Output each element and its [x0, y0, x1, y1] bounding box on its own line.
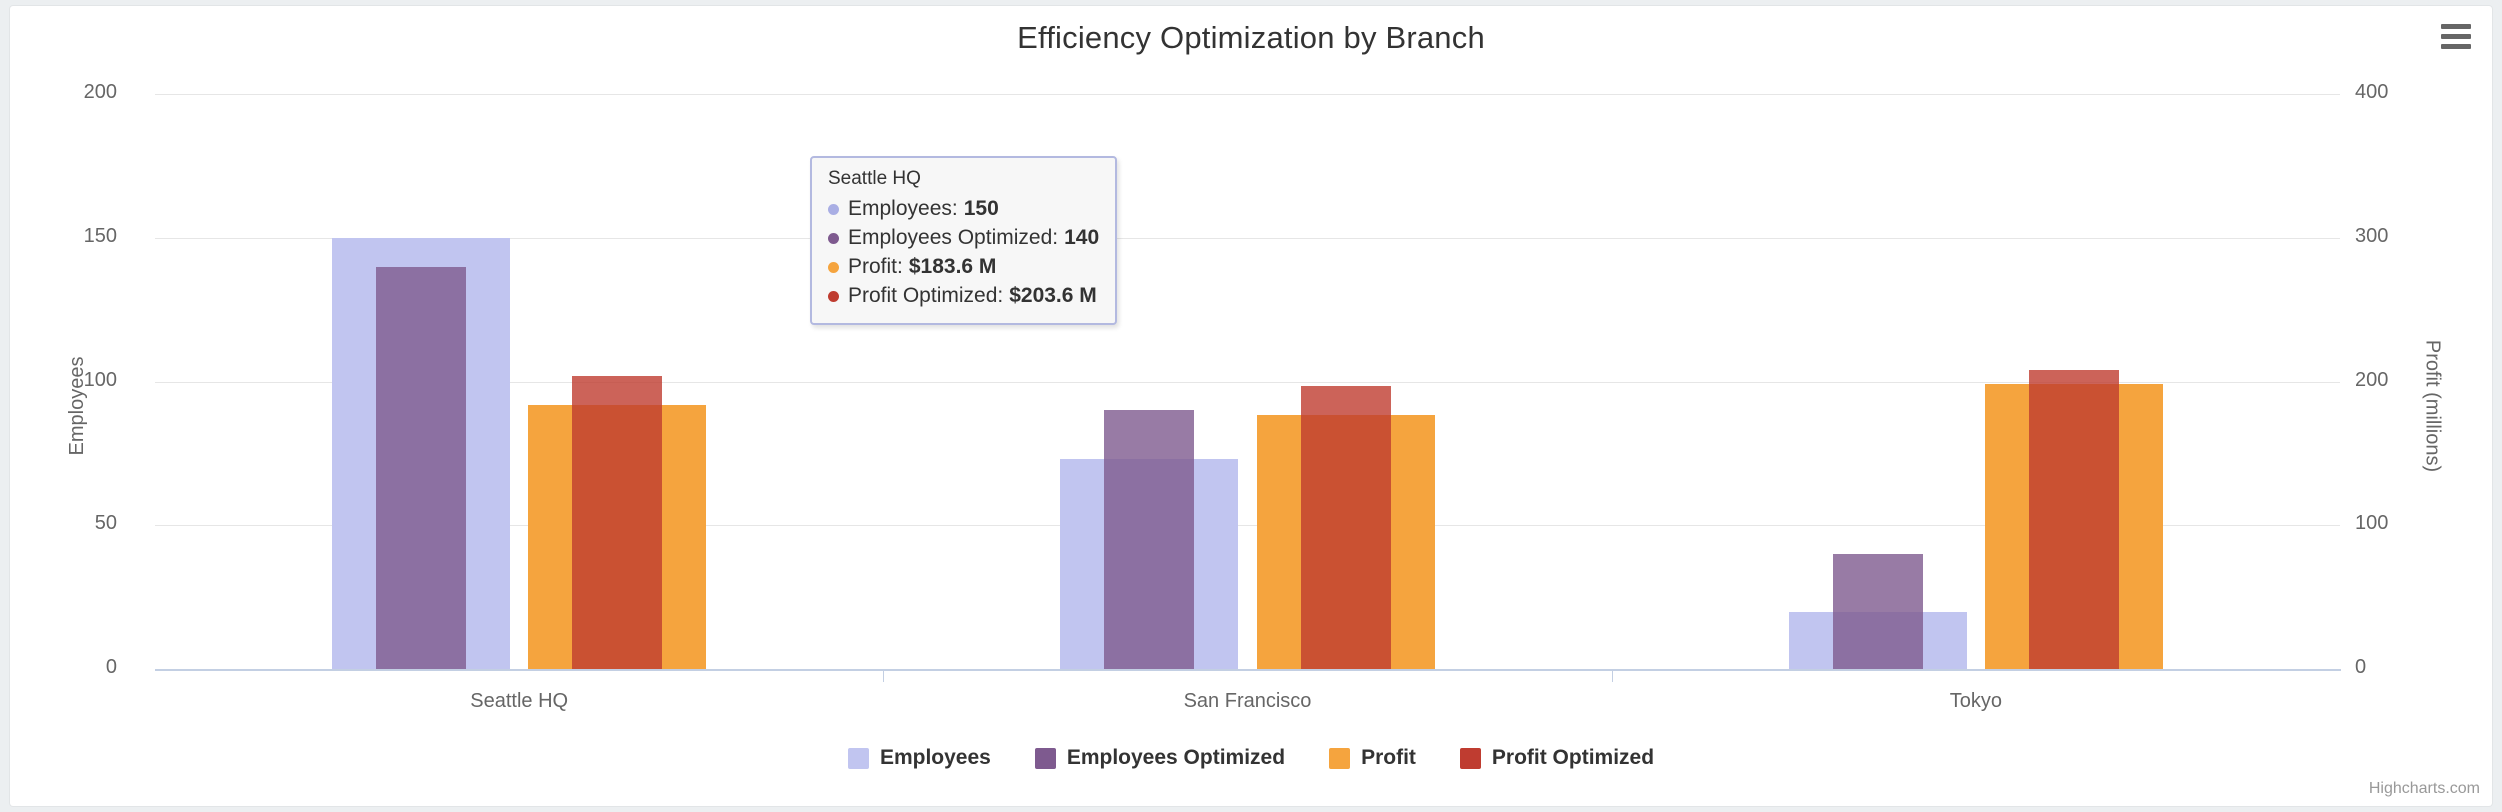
- legend-label: Profit: [1361, 746, 1416, 770]
- y-axis-tick-label-right: 300: [2355, 225, 2388, 248]
- legend-label: Employees: [880, 746, 991, 770]
- y-axis-tick-label-left: 200: [84, 81, 117, 104]
- y-axis-tick-label-right: 400: [2355, 81, 2388, 104]
- x-axis-tick-label: San Francisco: [1184, 690, 1312, 713]
- hamburger-menu-icon[interactable]: [2434, 14, 2478, 58]
- legend: EmployeesEmployees OptimizedProfitProfit…: [10, 746, 2492, 770]
- tooltip-series-value: 150: [964, 195, 999, 224]
- legend-item-profit-optimized[interactable]: Profit Optimized: [1460, 746, 1654, 770]
- tooltip: Seattle HQ Employees:150Employees Optimi…: [810, 156, 1117, 325]
- y-axis-tick-label-right: 100: [2355, 512, 2388, 535]
- tooltip-series-dot: [828, 233, 839, 244]
- tooltip-rows: Employees:150Employees Optimized:140Prof…: [828, 195, 1099, 311]
- legend-item-employees-optimized[interactable]: Employees Optimized: [1035, 746, 1285, 770]
- bar-profit-optimized[interactable]: [572, 376, 662, 669]
- x-axis-tick-label: Tokyo: [1950, 690, 2002, 713]
- tooltip-row: Profit:$183.6 M: [828, 253, 1099, 282]
- bar-profit-optimized[interactable]: [1301, 386, 1391, 669]
- hamburger-bar-1: [2441, 24, 2471, 29]
- gridline: [155, 94, 2340, 95]
- tooltip-row: Employees Optimized:140: [828, 224, 1099, 253]
- y-axis-tick-label-left: 50: [95, 512, 117, 535]
- y-axis-tick-label-left: 0: [106, 656, 117, 679]
- y-axis-tick-label-left: 150: [84, 225, 117, 248]
- x-axis-tick-label: Seattle HQ: [470, 690, 568, 713]
- legend-swatch: [1035, 748, 1056, 769]
- x-axis-tick: [1612, 671, 1613, 682]
- bar-employees-optimized[interactable]: [1833, 554, 1923, 669]
- tooltip-series-dot: [828, 204, 839, 215]
- bar-employees-optimized[interactable]: [376, 267, 466, 670]
- plot-area: [155, 94, 2340, 669]
- hamburger-bar-3: [2441, 44, 2471, 49]
- legend-item-employees[interactable]: Employees: [848, 746, 991, 770]
- y-axis-tick-label-right: 0: [2355, 656, 2366, 679]
- tooltip-series-dot: [828, 291, 839, 302]
- legend-label: Employees Optimized: [1067, 746, 1285, 770]
- y-axis-title-right: Profit (millions): [2420, 340, 2443, 472]
- legend-swatch: [848, 748, 869, 769]
- y-axis-title-left: Employees: [66, 357, 89, 456]
- bar-employees-optimized[interactable]: [1104, 410, 1194, 669]
- tooltip-series-label: Profit:: [848, 253, 903, 282]
- y-axis-tick-label-right: 200: [2355, 369, 2388, 392]
- x-axis-tick: [883, 671, 884, 682]
- tooltip-series-value: 140: [1064, 224, 1099, 253]
- legend-swatch: [1329, 748, 1350, 769]
- tooltip-row: Profit Optimized:$203.6 M: [828, 282, 1099, 311]
- highcharts-container: Efficiency Optimization by Branch 005010…: [10, 6, 2492, 806]
- credits-link[interactable]: Highcharts.com: [2369, 780, 2480, 798]
- legend-swatch: [1460, 748, 1481, 769]
- tooltip-series-value: $183.6 M: [909, 253, 997, 282]
- tooltip-series-dot: [828, 262, 839, 273]
- tooltip-series-label: Profit Optimized:: [848, 282, 1003, 311]
- hamburger-bar-2: [2441, 34, 2471, 39]
- tooltip-row: Employees:150: [828, 195, 1099, 224]
- tooltip-header: Seattle HQ: [828, 168, 1099, 190]
- legend-item-profit[interactable]: Profit: [1329, 746, 1416, 770]
- bar-profit-optimized[interactable]: [2029, 370, 2119, 669]
- x-axis-line: [155, 669, 2341, 671]
- legend-label: Profit Optimized: [1492, 746, 1654, 770]
- tooltip-series-label: Employees:: [848, 195, 958, 224]
- tooltip-series-value: $203.6 M: [1009, 282, 1097, 311]
- tooltip-series-label: Employees Optimized:: [848, 224, 1058, 253]
- chart-title: Efficiency Optimization by Branch: [10, 20, 2492, 56]
